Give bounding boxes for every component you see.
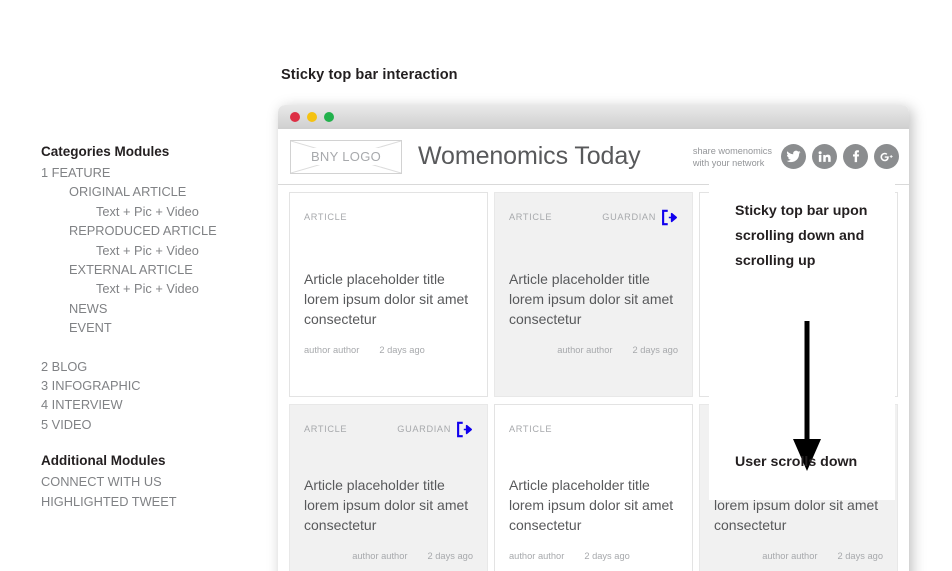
sidebar-item-interview[interactable]: 4 INTERVIEW	[41, 395, 273, 414]
sidebar-item-connect-with-us[interactable]: CONNECT WITH US	[41, 472, 273, 491]
browser-chrome-bar	[278, 105, 909, 129]
sidebar-item-original-article[interactable]: ORIGINAL ARTICLE	[41, 182, 273, 201]
card-meta: author author 2 days ago	[509, 551, 678, 561]
sidebar-item-highlighted-tweet[interactable]: HIGHLIGHTED TWEET	[41, 492, 273, 511]
sidebar-item-external-article[interactable]: EXTERNAL ARTICLE	[41, 260, 273, 279]
sidebar-item-reproduced-article[interactable]: REPRODUCED ARTICLE	[41, 221, 273, 240]
card-author: author author	[762, 551, 817, 561]
sidebar-spacer-2	[41, 434, 273, 453]
sidebar-item-video[interactable]: 5 VIDEO	[41, 415, 273, 434]
card-meta: author author 2 days ago	[304, 551, 473, 561]
card-title[interactable]: Article placeholder title lorem ipsum do…	[304, 269, 473, 329]
sidebar-item-external-article-media[interactable]: Text + Pic + Video	[41, 279, 273, 298]
external-link-icon[interactable]	[456, 421, 473, 438]
googleplus-icon[interactable]	[874, 144, 899, 169]
page-title: Sticky top bar interaction	[281, 67, 458, 83]
facebook-glyph	[848, 149, 863, 164]
annotation-text: Sticky top bar upon scrolling down and s…	[735, 199, 885, 274]
site-header: BNY LOGO Womenomics Today share womenomi…	[278, 129, 909, 185]
sidebar-item-original-article-media[interactable]: Text + Pic + Video	[41, 202, 273, 221]
linkedin-icon[interactable]	[812, 144, 837, 169]
article-card[interactable]: ARTICLE Article placeholder title lorem …	[494, 404, 693, 571]
article-card[interactable]: ARTICLE GUARDIAN Article placeholder tit…	[494, 192, 693, 397]
article-card[interactable]: ARTICLE GUARDIAN Article placeholder tit…	[289, 404, 488, 571]
card-source[interactable]: GUARDIAN	[602, 209, 678, 226]
sidebar-item-blog[interactable]: 2 BLOG	[41, 357, 273, 376]
card-meta: author author 2 days ago	[304, 345, 473, 355]
annotation-overlay: Sticky top bar upon scrolling down and s…	[709, 181, 895, 500]
card-header: ARTICLE	[509, 421, 678, 437]
annotation-footer: User scrolls down	[735, 454, 857, 470]
card-header: ARTICLE GUARDIAN	[304, 421, 473, 437]
sidebar-spacer	[41, 338, 273, 357]
card-kicker: ARTICLE	[509, 424, 552, 434]
facebook-icon[interactable]	[843, 144, 868, 169]
card-title[interactable]: Article placeholder title lorem ipsum do…	[509, 475, 678, 535]
sidebar-item-event[interactable]: EVENT	[41, 318, 273, 337]
card-source-label: GUARDIAN	[602, 212, 656, 222]
down-arrow-icon	[787, 321, 827, 476]
googleplus-glyph	[879, 149, 895, 165]
sidebar-item-feature[interactable]: 1 FEATURE	[41, 163, 273, 182]
categories-sidebar: Categories Modules 1 FEATURE ORIGINAL AR…	[41, 144, 273, 511]
sidebar-item-news[interactable]: NEWS	[41, 299, 273, 318]
card-date: 2 days ago	[584, 551, 630, 561]
external-link-icon[interactable]	[661, 209, 678, 226]
card-kicker: ARTICLE	[509, 212, 552, 222]
sidebar-heading-additional: Additional Modules	[41, 453, 273, 468]
logo-label: BNY LOGO	[306, 148, 386, 165]
social-links	[781, 144, 899, 169]
article-card[interactable]: ARTICLE Article placeholder title lorem …	[289, 192, 488, 397]
card-source[interactable]: GUARDIAN	[397, 421, 473, 438]
sidebar-item-reproduced-article-media[interactable]: Text + Pic + Video	[41, 241, 273, 260]
card-header: ARTICLE	[304, 209, 473, 225]
screenshot-root: Sticky top bar interaction Categories Mo…	[0, 0, 952, 571]
card-header: ARTICLE GUARDIAN	[509, 209, 678, 225]
card-meta: author author 2 days ago	[509, 345, 678, 355]
card-date: 2 days ago	[428, 551, 474, 561]
zoom-dot[interactable]	[324, 112, 334, 122]
card-title[interactable]: Article placeholder title lorem ipsum do…	[304, 475, 473, 535]
sidebar-item-infographic[interactable]: 3 INFOGRAPHIC	[41, 376, 273, 395]
card-author: author author	[352, 551, 407, 561]
card-kicker: ARTICLE	[304, 212, 347, 222]
card-source-label: GUARDIAN	[397, 424, 451, 434]
card-date: 2 days ago	[633, 345, 679, 355]
card-meta: author author 2 days ago	[714, 551, 883, 561]
share-section: share womenomics with your network	[693, 144, 899, 169]
minimize-dot[interactable]	[307, 112, 317, 122]
card-date: 2 days ago	[838, 551, 884, 561]
close-dot[interactable]	[290, 112, 300, 122]
twitter-icon[interactable]	[781, 144, 806, 169]
bny-logo-placeholder[interactable]: BNY LOGO	[290, 140, 402, 174]
share-caption-line2: with your network	[693, 157, 772, 169]
share-caption: share womenomics with your network	[693, 145, 772, 169]
card-title[interactable]: Article placeholder title lorem ipsum do…	[509, 269, 678, 329]
card-kicker: ARTICLE	[304, 424, 347, 434]
linkedin-glyph	[817, 149, 832, 164]
sidebar-heading-categories: Categories Modules	[41, 144, 273, 159]
site-title: Womenomics Today	[418, 142, 641, 171]
card-author: author author	[304, 345, 359, 355]
card-author: author author	[557, 345, 612, 355]
card-date: 2 days ago	[379, 345, 425, 355]
twitter-glyph	[786, 149, 801, 164]
share-caption-line1: share womenomics	[693, 145, 772, 157]
card-author: author author	[509, 551, 564, 561]
